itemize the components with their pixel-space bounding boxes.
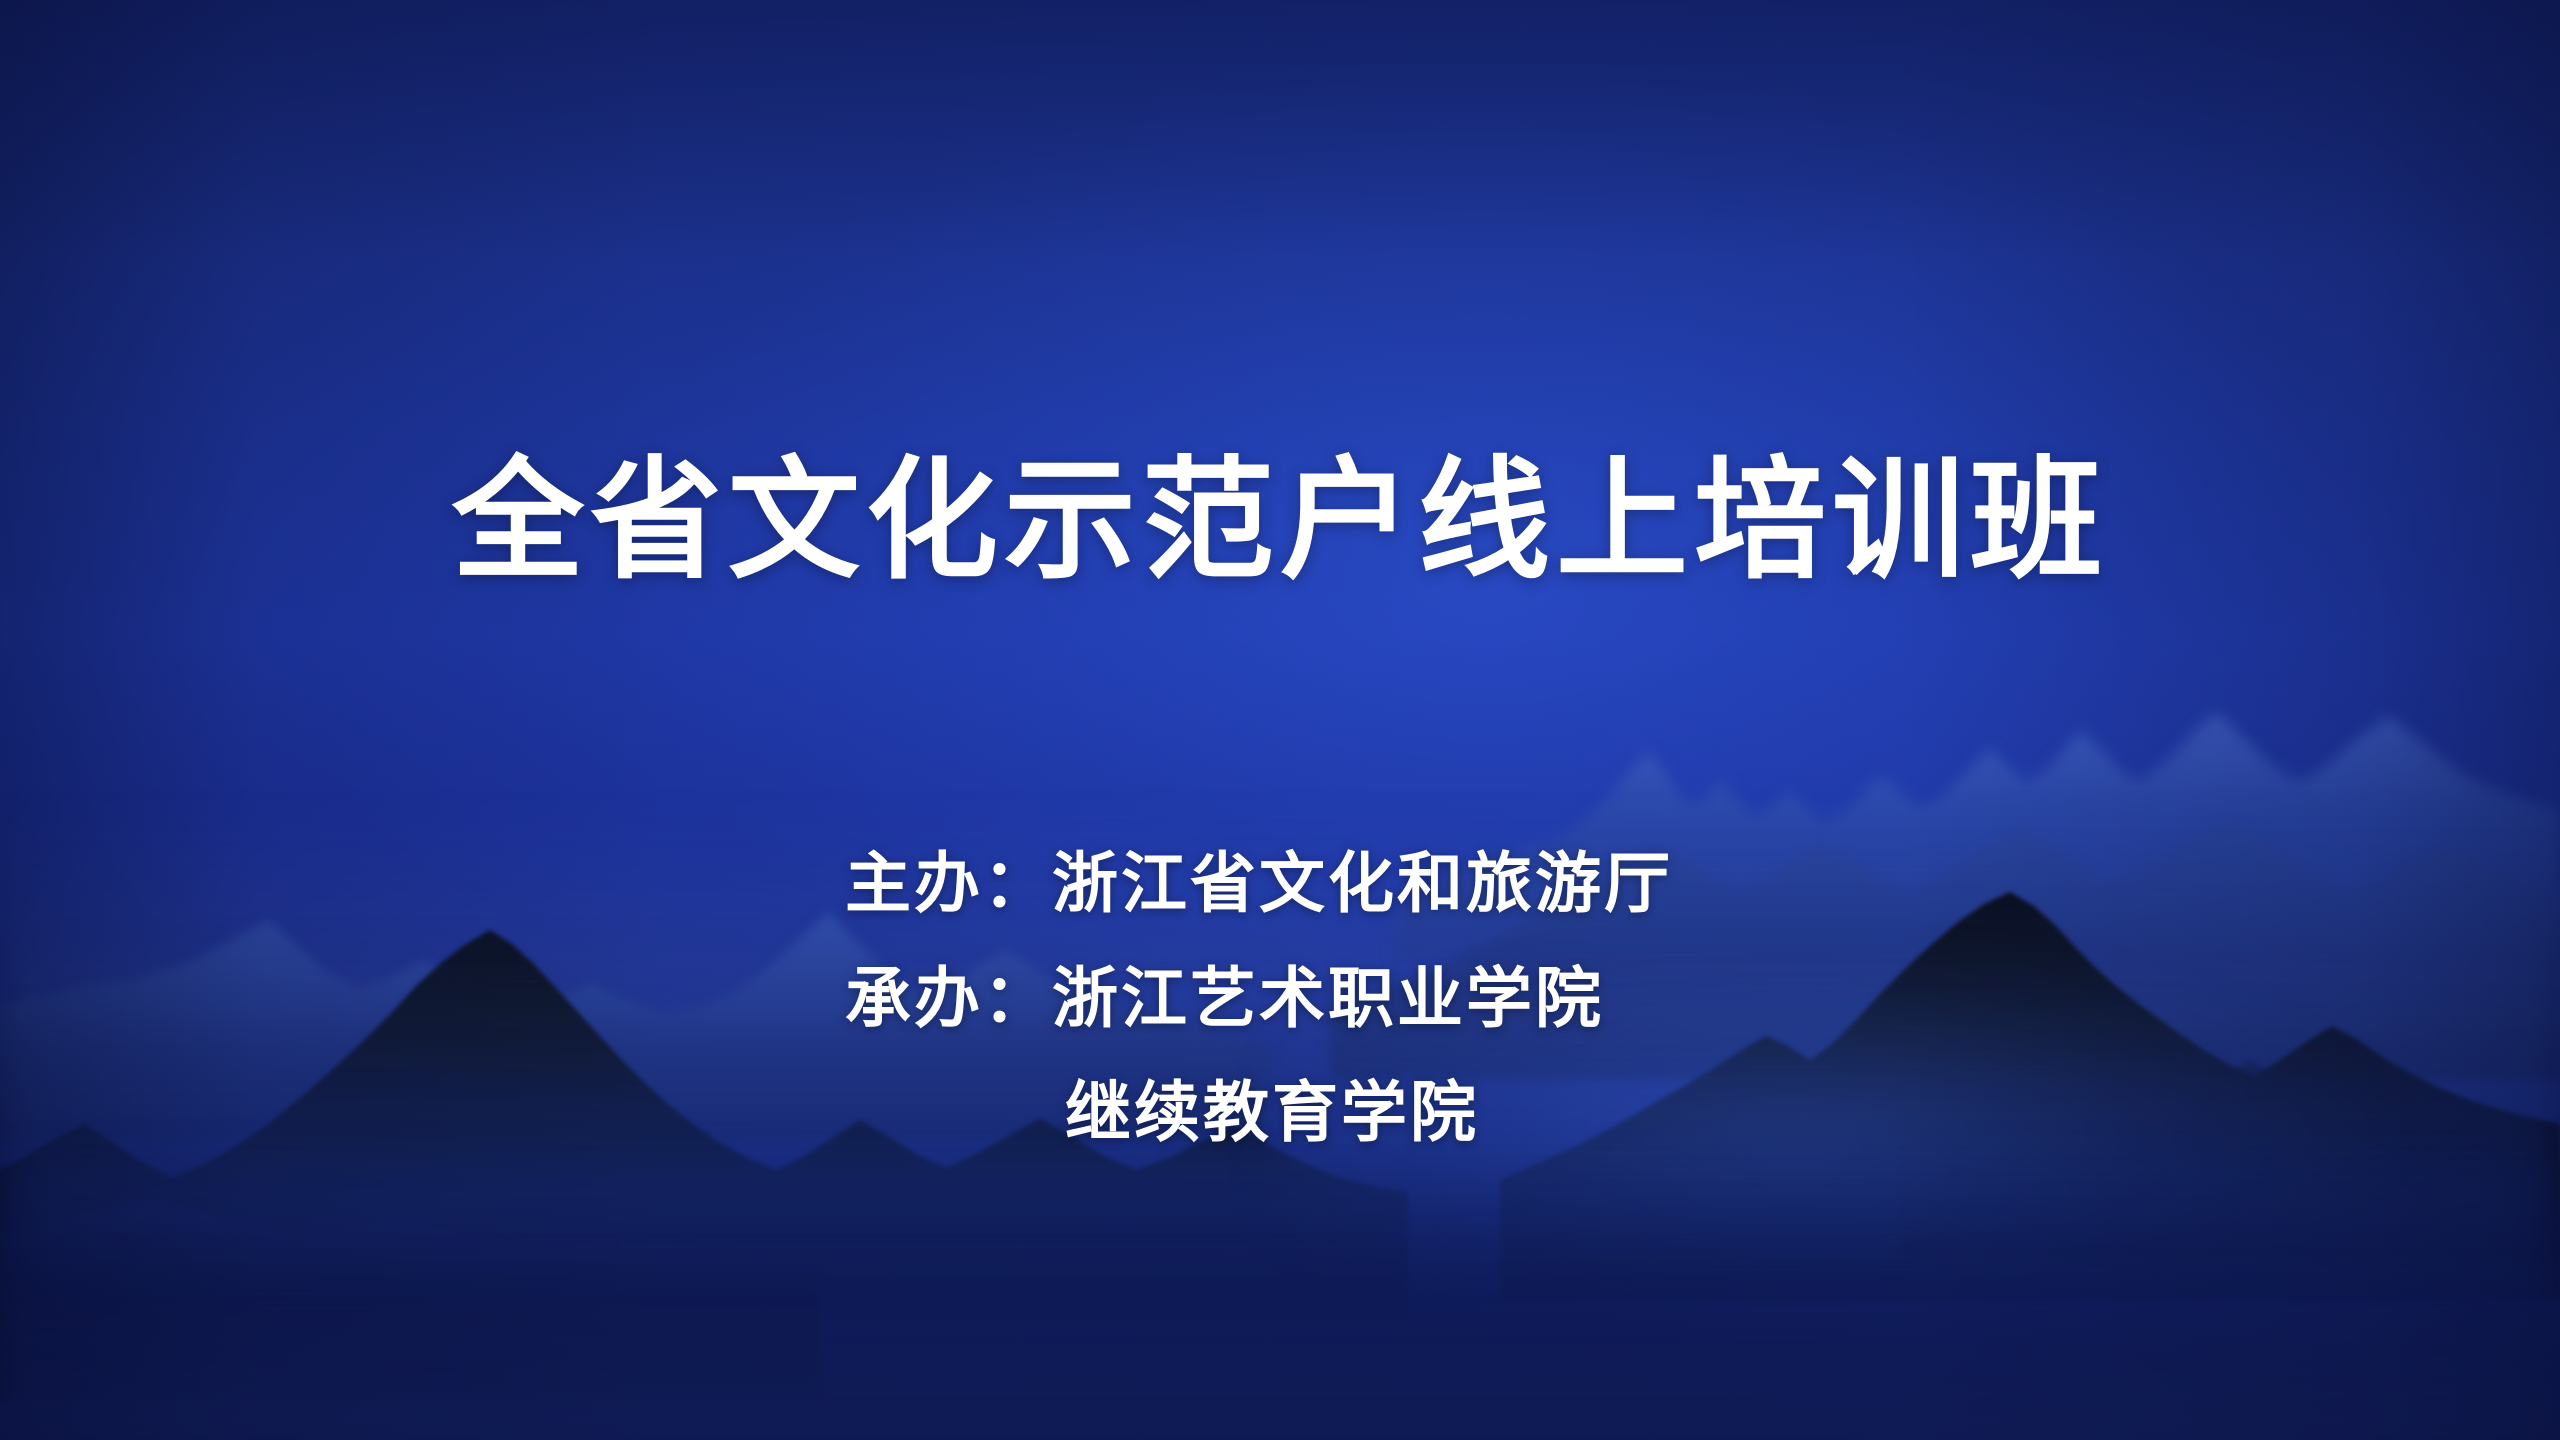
presentation-slide: 全省文化示范户线上培训班 主办：浙江省文化和旅游厅 承办：浙江艺术职业学院 继续…: [0, 0, 2560, 1440]
slide-content: 全省文化示范户线上培训班 主办：浙江省文化和旅游厅 承办：浙江艺术职业学院 继续…: [0, 0, 2560, 1440]
subtitle-line-organizer: 主办：浙江省文化和旅游厅: [0, 848, 2560, 921]
slide-subtitle-block: 主办：浙江省文化和旅游厅 承办：浙江艺术职业学院 继续教育学院: [0, 848, 2560, 1150]
slide-title: 全省文化示范户线上培训班: [0, 440, 2560, 604]
subtitle-line-host-department: 继续教育学院: [0, 1077, 2560, 1150]
subtitle-line-host: 承办：浙江艺术职业学院: [0, 963, 2560, 1036]
